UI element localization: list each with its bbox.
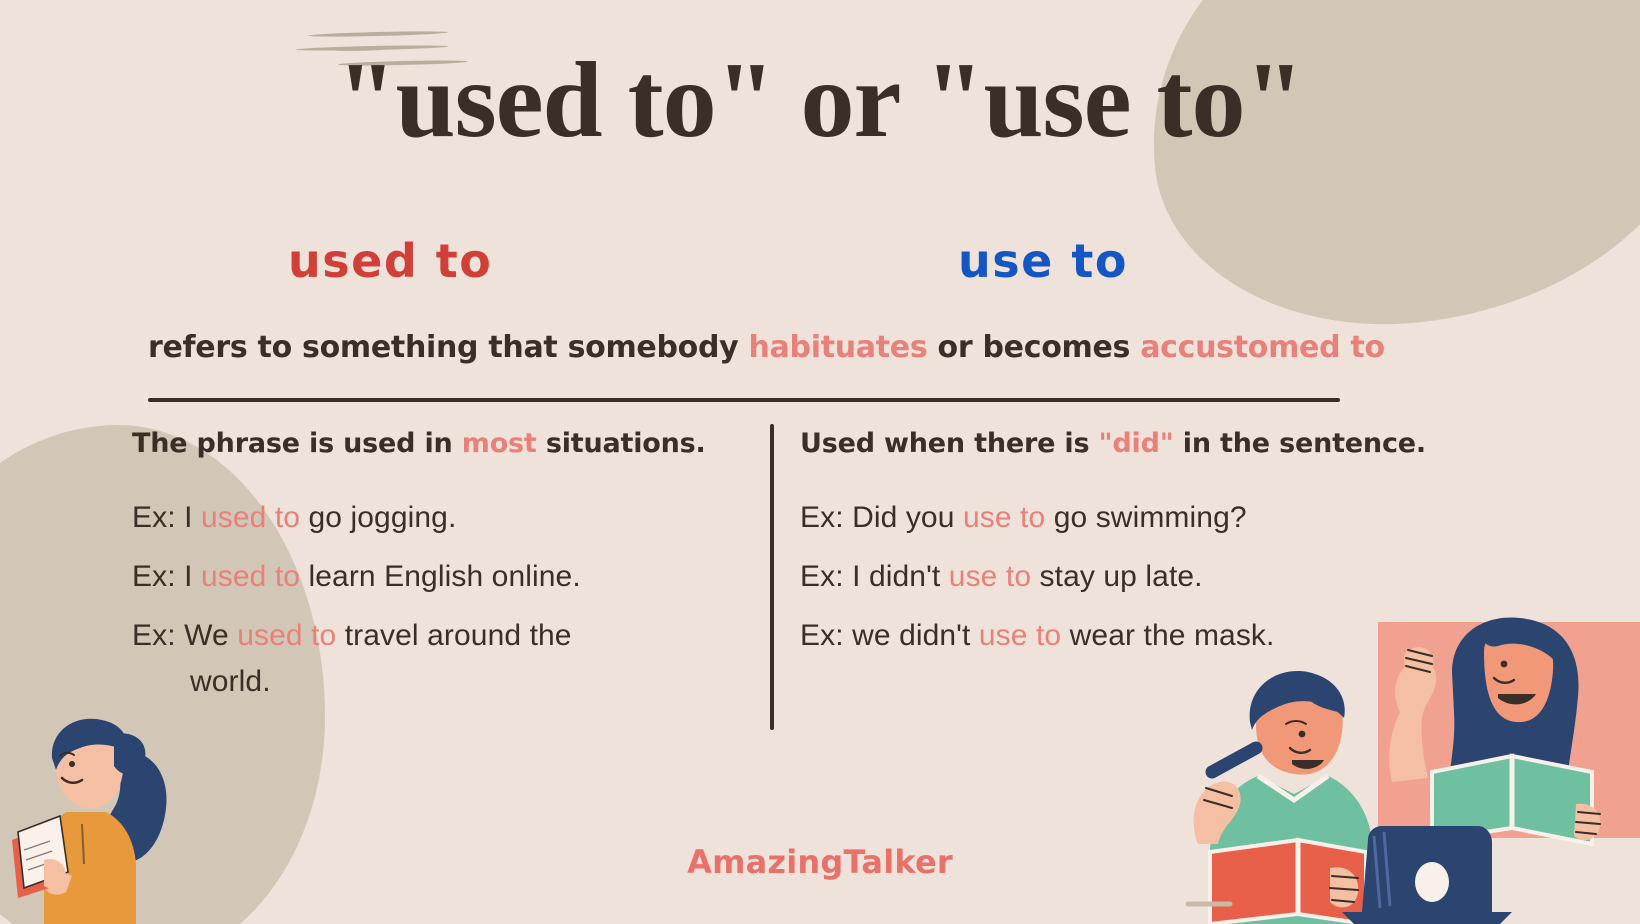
example-prefix: Ex: we didn't: [800, 619, 979, 652]
illustration-boy-and-woman-studying: [1080, 596, 1640, 924]
right-rule-text-1: Used when there is: [800, 428, 1099, 459]
column-heading-use-to: use to: [958, 234, 1128, 288]
example-prefix: Ex: We: [132, 619, 237, 652]
example-item: Ex: We used to travel around the world.: [132, 621, 752, 697]
laptop-base-icon: [1342, 912, 1512, 924]
example-highlight: use to: [979, 619, 1061, 652]
definition-subtitle: refers to something that somebody habitu…: [148, 330, 1343, 365]
boy-book-left-page: [1210, 840, 1298, 924]
example-prefix: Ex: I: [132, 560, 201, 593]
example-prefix: Ex: I: [132, 501, 201, 534]
example-highlight: used to: [237, 619, 336, 652]
example-item: Ex: I didn't use to stay up late.: [800, 562, 1480, 592]
example-prefix: Ex: I didn't: [800, 560, 949, 593]
subtitle-highlight-accustomed-to: accustomed to: [1140, 330, 1385, 365]
illustration-girl-reading-book: [10, 700, 210, 924]
subtitle-text-1: refers to something that somebody: [148, 330, 749, 365]
right-rule-highlight: "did": [1099, 428, 1174, 459]
left-column-rule: The phrase is used in most situations.: [132, 428, 752, 459]
example-prefix: Ex: Did you: [800, 501, 963, 534]
subtitle-text-2: or becomes: [927, 330, 1140, 365]
left-rule-text-1: The phrase is used in: [132, 428, 462, 459]
right-rule-text-2: in the sentence.: [1174, 428, 1426, 459]
left-rule-text-2: situations.: [537, 428, 706, 459]
laptop-logo-icon: [1415, 862, 1449, 902]
boy-eye-icon: [1299, 731, 1306, 738]
example-suffix: learn English online.: [300, 560, 581, 593]
example-highlight: used to: [201, 560, 300, 593]
example-highlight: used to: [201, 501, 300, 534]
page-title: "used to" or "use to": [0, 44, 1640, 157]
example-item: Ex: I used to learn English online.: [132, 562, 752, 592]
example-item: Ex: I used to go jogging.: [132, 503, 752, 533]
eye-icon: [69, 761, 75, 767]
example-suffix: go jogging.: [300, 501, 456, 534]
woman-eye-icon: [1501, 661, 1508, 668]
brush-stroke-1: [308, 30, 448, 37]
example-item: Ex: Did you use to go swimming?: [800, 503, 1480, 533]
example-highlight: use to: [963, 501, 1045, 534]
vertical-column-divider: [770, 424, 774, 730]
subtitle-highlight-habituates: habituates: [749, 330, 928, 365]
example-wrap-line: world.: [132, 667, 752, 697]
column-heading-used-to: used to: [288, 234, 492, 288]
infographic-canvas: "used to" or "use to" used to use to ref…: [0, 0, 1640, 924]
example-highlight: use to: [949, 560, 1031, 593]
right-column-rule: Used when there is "did" in the sentence…: [800, 428, 1480, 459]
example-suffix: stay up late.: [1031, 560, 1203, 593]
left-column: The phrase is used in most situations. E…: [132, 428, 752, 726]
pen-icon: [1212, 748, 1256, 772]
example-suffix: go swimming?: [1045, 501, 1246, 534]
example-suffix: travel around the: [336, 619, 571, 652]
horizontal-divider: [148, 398, 1340, 402]
left-rule-highlight: most: [462, 428, 537, 459]
